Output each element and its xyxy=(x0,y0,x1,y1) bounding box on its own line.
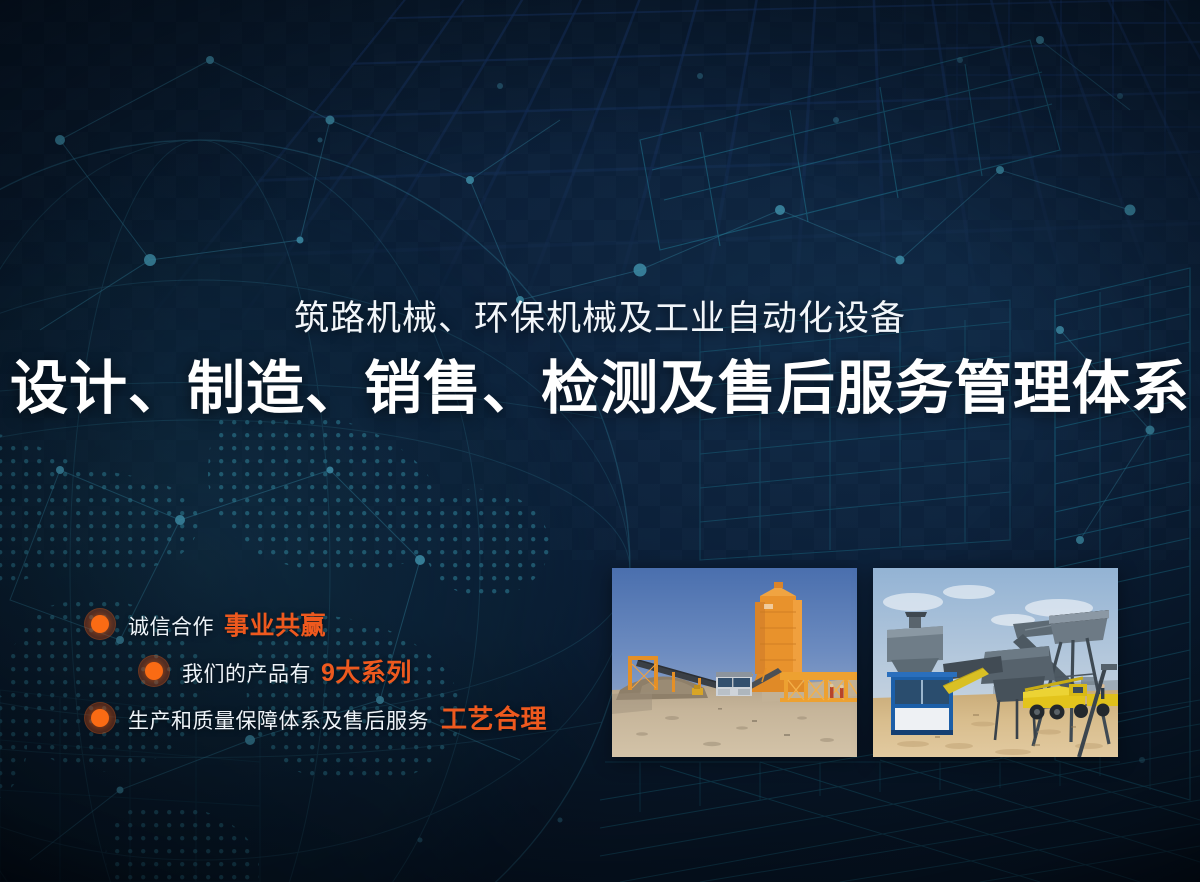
list-item-highlight: 9大系列 xyxy=(321,653,412,689)
list-item-label: 生产和质量保障体系及售后服务 xyxy=(128,705,429,735)
list-item: 生产和质量保障体系及售后服务 工艺合理 xyxy=(84,694,604,741)
page-title: 设计、制造、销售、检测及售后服务管理体系 xyxy=(0,356,1200,423)
list-item: 诚信合作 事业共赢 xyxy=(84,600,604,647)
list-item-text: 我们的产品有 9大系列 xyxy=(182,653,412,689)
feature-bullet-list: 诚信合作 事业共赢 我们的产品有 9大系列 生产和质量保障体系及售后服务 工艺合… xyxy=(84,600,604,741)
mobile-mixing-plant-photo[interactable] xyxy=(873,568,1118,757)
bullet-dot-icon xyxy=(84,702,116,734)
list-item-text: 诚信合作 事业共赢 xyxy=(128,606,326,642)
headline-group: 筑路机械、环保机械及工业自动化设备 设计、制造、销售、检测及售后服务管理体系 xyxy=(0,298,1200,423)
list-item: 我们的产品有 9大系列 xyxy=(138,647,604,694)
bullet-dot-icon xyxy=(84,608,116,640)
bullet-dot-icon xyxy=(138,655,170,687)
concrete-batching-plant-photo[interactable] xyxy=(612,568,857,757)
hero-banner: 筑路机械、环保机械及工业自动化设备 设计、制造、销售、检测及售后服务管理体系 诚… xyxy=(0,0,1200,882)
list-item-highlight: 事业共赢 xyxy=(224,606,326,642)
list-item-text: 生产和质量保障体系及售后服务 工艺合理 xyxy=(128,699,547,736)
list-item-label: 诚信合作 xyxy=(128,611,214,641)
photo-gallery xyxy=(612,568,1118,757)
list-item-highlight: 工艺合理 xyxy=(441,699,547,736)
headline-subtitle: 筑路机械、环保机械及工业自动化设备 xyxy=(0,298,1200,340)
list-item-label: 我们的产品有 xyxy=(182,658,311,688)
